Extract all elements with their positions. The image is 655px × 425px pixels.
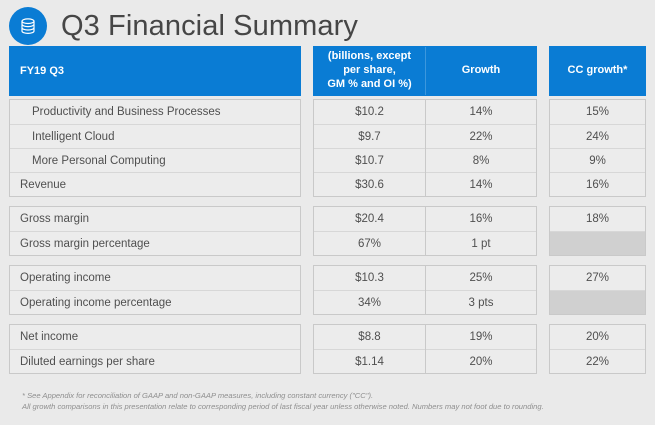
title-bar: Q3 Financial Summary bbox=[0, 0, 655, 46]
row-label: Revenue bbox=[10, 172, 300, 196]
column-gap bbox=[537, 99, 549, 197]
growth-cell-wrap: 3 pts bbox=[425, 290, 536, 314]
label-column-block: Productivity and Business ProcessesIntel… bbox=[9, 99, 301, 197]
cc-growth-cell-empty bbox=[550, 290, 645, 314]
row-group-band: Operating incomeOperating income percent… bbox=[9, 265, 646, 315]
table-row: $20.416% bbox=[314, 207, 536, 231]
table-body: Productivity and Business ProcessesIntel… bbox=[9, 99, 646, 374]
table-row: $9.722% bbox=[314, 124, 536, 148]
value-growth-column-block: $8.819%$1.1420% bbox=[313, 324, 537, 374]
row-label: Net income bbox=[10, 325, 300, 349]
table-row: $8.819% bbox=[314, 325, 536, 349]
column-gap bbox=[537, 206, 549, 256]
header-value-line1: (billions, except bbox=[328, 50, 411, 62]
cc-growth-cell-empty bbox=[550, 231, 645, 255]
growth-cell: 14% bbox=[426, 100, 536, 124]
row-group: Net incomeDiluted earnings per share$8.8… bbox=[9, 324, 646, 374]
cc-growth-column-block: 27% bbox=[549, 265, 646, 315]
growth-cell: 8% bbox=[426, 148, 536, 172]
growth-cell: 3 pts bbox=[426, 290, 536, 314]
row-label: Intelligent Cloud bbox=[10, 124, 300, 148]
growth-cell-wrap: 22% bbox=[425, 124, 536, 148]
header-value-line3: GM % and OI %) bbox=[327, 78, 411, 90]
value-cell-wrap: $10.7 bbox=[314, 148, 425, 172]
header-cell-cc-growth: CC growth* bbox=[549, 46, 646, 96]
header-cell-mid-group: (billions, except per share, GM % and OI… bbox=[313, 46, 537, 96]
row-group: Operating incomeOperating income percent… bbox=[9, 265, 646, 315]
label-column-block: Gross marginGross margin percentage bbox=[9, 206, 301, 256]
header-value-line2: per share, bbox=[343, 64, 396, 76]
header-cc-growth-text: CC growth* bbox=[550, 47, 645, 95]
growth-cell-wrap: 14% bbox=[425, 172, 536, 196]
value-cell: $1.14 bbox=[314, 349, 425, 373]
column-gap bbox=[301, 324, 313, 374]
footnotes: * See Appendix for reconciliation of GAA… bbox=[9, 383, 646, 413]
footnote-1: * See Appendix for reconciliation of GAA… bbox=[22, 390, 646, 401]
table-row: $10.214% bbox=[314, 100, 536, 124]
growth-cell: 1 pt bbox=[426, 231, 536, 255]
cc-growth-cell: 27% bbox=[550, 266, 645, 290]
row-label: Gross margin percentage bbox=[10, 231, 300, 255]
cc-growth-cell: 16% bbox=[550, 172, 645, 196]
growth-cell-wrap: 25% bbox=[425, 266, 536, 290]
header-label-text: FY19 Q3 bbox=[10, 47, 300, 95]
row-label: Productivity and Business Processes bbox=[10, 100, 300, 124]
growth-cell-wrap: 14% bbox=[425, 100, 536, 124]
growth-cell: 25% bbox=[426, 266, 536, 290]
table-row: $1.1420% bbox=[314, 349, 536, 373]
growth-cell-wrap: 19% bbox=[425, 325, 536, 349]
cc-growth-cell: 24% bbox=[550, 124, 645, 148]
growth-cell-wrap: 20% bbox=[425, 349, 536, 373]
value-cell: $10.2 bbox=[314, 100, 425, 124]
value-cell-wrap: 67% bbox=[314, 231, 425, 255]
header-cell-label: FY19 Q3 bbox=[9, 46, 301, 96]
cc-growth-column-block: 20%22% bbox=[549, 324, 646, 374]
table-row: $10.325% bbox=[314, 266, 536, 290]
row-group-band: Productivity and Business ProcessesIntel… bbox=[9, 99, 646, 197]
value-cell: $20.4 bbox=[314, 207, 425, 231]
row-label: Operating income percentage bbox=[10, 290, 300, 314]
cc-growth-column-block: 15%24%9%16% bbox=[549, 99, 646, 197]
growth-cell-wrap: 1 pt bbox=[425, 231, 536, 255]
value-cell-wrap: $30.6 bbox=[314, 172, 425, 196]
table-row: $10.78% bbox=[314, 148, 536, 172]
row-label: Operating income bbox=[10, 266, 300, 290]
cc-growth-cell: 20% bbox=[550, 325, 645, 349]
cc-growth-cell: 15% bbox=[550, 100, 645, 124]
table-row: 67%1 pt bbox=[314, 231, 536, 255]
row-label: Diluted earnings per share bbox=[10, 349, 300, 373]
value-growth-column-block: $10.325%34%3 pts bbox=[313, 265, 537, 315]
table-row: $30.614% bbox=[314, 172, 536, 196]
table-header-row: FY19 Q3 (billions, except per share, GM … bbox=[9, 46, 646, 96]
page-title: Q3 Financial Summary bbox=[61, 12, 358, 41]
cc-growth-cell: 9% bbox=[550, 148, 645, 172]
financial-summary-table: FY19 Q3 (billions, except per share, GM … bbox=[0, 46, 655, 413]
database-icon bbox=[9, 7, 47, 45]
value-cell-wrap: $1.14 bbox=[314, 349, 425, 373]
value-cell-wrap: $20.4 bbox=[314, 207, 425, 231]
row-label: More Personal Computing bbox=[10, 148, 300, 172]
value-growth-column-block: $10.214%$9.722%$10.78%$30.614% bbox=[313, 99, 537, 197]
value-cell: $8.8 bbox=[314, 325, 425, 349]
header-cell-value: (billions, except per share, GM % and OI… bbox=[314, 47, 425, 95]
label-column-block: Net incomeDiluted earnings per share bbox=[9, 324, 301, 374]
cc-growth-column-block: 18% bbox=[549, 206, 646, 256]
value-cell: $10.7 bbox=[314, 148, 425, 172]
column-gap bbox=[301, 46, 313, 96]
value-cell: 67% bbox=[314, 231, 425, 255]
row-group: Productivity and Business ProcessesIntel… bbox=[9, 99, 646, 197]
column-gap bbox=[301, 265, 313, 315]
value-cell-wrap: $8.8 bbox=[314, 325, 425, 349]
value-cell: 34% bbox=[314, 290, 425, 314]
value-cell: $30.6 bbox=[314, 172, 425, 196]
growth-cell: 22% bbox=[426, 124, 536, 148]
label-column-block: Operating incomeOperating income percent… bbox=[9, 265, 301, 315]
column-gap bbox=[537, 46, 549, 96]
growth-cell: 20% bbox=[426, 349, 536, 373]
column-gap bbox=[301, 99, 313, 197]
header-growth-text: Growth bbox=[426, 47, 536, 95]
value-cell: $10.3 bbox=[314, 266, 425, 290]
column-gap bbox=[537, 324, 549, 374]
growth-cell: 16% bbox=[426, 207, 536, 231]
value-cell-wrap: 34% bbox=[314, 290, 425, 314]
value-cell-wrap: $9.7 bbox=[314, 124, 425, 148]
row-group-band: Net incomeDiluted earnings per share$8.8… bbox=[9, 324, 646, 374]
growth-cell: 19% bbox=[426, 325, 536, 349]
header-value-text: (billions, except per share, GM % and OI… bbox=[314, 47, 425, 95]
growth-cell-wrap: 16% bbox=[425, 207, 536, 231]
value-cell-wrap: $10.2 bbox=[314, 100, 425, 124]
row-group-band: Gross marginGross margin percentage$20.4… bbox=[9, 206, 646, 256]
value-cell: $9.7 bbox=[314, 124, 425, 148]
growth-cell-wrap: 8% bbox=[425, 148, 536, 172]
cc-growth-cell: 22% bbox=[550, 349, 645, 373]
header-cell-growth: Growth bbox=[425, 47, 536, 95]
column-gap bbox=[537, 265, 549, 315]
cc-growth-cell: 18% bbox=[550, 207, 645, 231]
value-cell-wrap: $10.3 bbox=[314, 266, 425, 290]
footnote-2: All growth comparisons in this presentat… bbox=[22, 401, 646, 412]
row-label: Gross margin bbox=[10, 207, 300, 231]
column-gap bbox=[301, 206, 313, 256]
table-row: 34%3 pts bbox=[314, 290, 536, 314]
row-group: Gross marginGross margin percentage$20.4… bbox=[9, 206, 646, 256]
growth-cell: 14% bbox=[426, 172, 536, 196]
value-growth-column-block: $20.416%67%1 pt bbox=[313, 206, 537, 256]
